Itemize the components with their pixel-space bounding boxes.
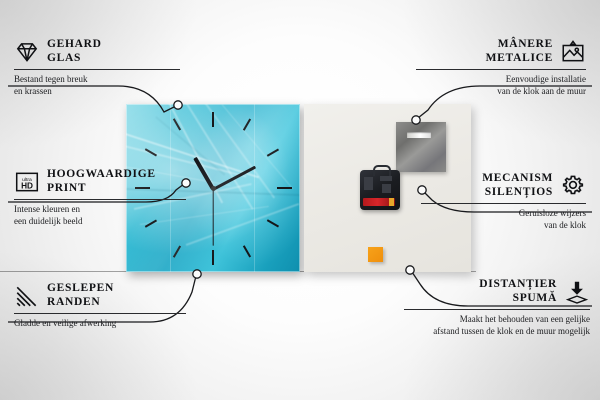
callout-sub-line2: van de klok: [421, 220, 586, 232]
callout-hoogwaardige-print[interactable]: ultra HD HOOGWAARDIGE PRINT Intense kleu…: [14, 168, 189, 227]
callout-sub-line1: Eenvoudige installatie: [416, 74, 586, 86]
callout-title-line1: GEHARD: [47, 38, 102, 52]
callout-sub-line1: Geruisloze wijzers: [421, 208, 586, 220]
callout-manere-metalice[interactable]: MÂNERE METALICE Eenvoudige installatie v…: [416, 38, 586, 97]
infographic-canvas: GEHARD GLAS Bestand tegen breuk en krass…: [0, 0, 600, 400]
callout-sub-line1: Bestand tegen breuk: [14, 74, 184, 86]
callout-sub-line1: Intense kleuren en: [14, 204, 189, 216]
gear-icon: [560, 173, 586, 199]
ultra-hd-icon: ultra HD: [14, 169, 40, 195]
callout-rule: [14, 199, 186, 200]
callout-rule: [14, 69, 180, 70]
callout-title-line1: MÂNERE: [486, 38, 553, 52]
callout-rule: [421, 203, 586, 204]
callout-rule: [404, 309, 590, 310]
callout-mecanism-silentios[interactable]: MECANISM SILENȚIOS Geruisloze wijzers va…: [421, 172, 586, 231]
battery-terminal: [389, 198, 394, 206]
callout-sub-line2: een duidelijk beeld: [14, 216, 189, 228]
callout-title-line2: GLAS: [47, 52, 102, 66]
callout-sub-line1: Gladde en veilige afwerking: [14, 318, 189, 330]
callout-geslepen-randen[interactable]: GESLEPEN RANDEN Gladde en veilige afwerk…: [14, 282, 189, 330]
callout-title-line2: SPUMĂ: [479, 292, 557, 306]
svg-text:HD: HD: [21, 181, 33, 190]
diamond-icon: [14, 39, 40, 65]
callout-title-line2: RANDEN: [47, 296, 114, 310]
callout-title-line2: METALICE: [486, 52, 553, 66]
mechanism-hook: [373, 165, 391, 176]
callout-title-line2: SILENȚIOS: [482, 186, 553, 200]
battery: [363, 198, 395, 206]
bevelled-edge-icon: [14, 283, 40, 309]
spacer-arrow-icon: [564, 279, 590, 305]
callout-title-line1: GESLEPEN: [47, 282, 114, 296]
callout-rule: [14, 313, 186, 314]
callout-title-line1: HOOGWAARDIGE: [47, 168, 156, 182]
callout-rule: [416, 69, 586, 70]
callout-title-line2: PRINT: [47, 182, 156, 196]
callout-sub-line2: van de klok aan de muur: [416, 86, 586, 98]
callout-gehard-glas[interactable]: GEHARD GLAS Bestand tegen breuk en krass…: [14, 38, 184, 97]
hanger-slot: [407, 132, 431, 138]
callout-sub-line2: en krassen: [14, 86, 184, 98]
metal-hanger-plate: [396, 122, 446, 172]
callout-title-line1: MECANISM: [482, 172, 553, 186]
callout-title-line1: DISTANȚIER: [479, 278, 557, 292]
callout-distantier-spuma[interactable]: DISTANȚIER SPUMĂ Maakt het behouden van …: [404, 278, 590, 337]
callout-sub-line2: afstand tussen de klok en de muur mogeli…: [404, 326, 590, 338]
callout-sub-line1: Maakt het behouden van een gelijke: [404, 314, 590, 326]
foam-spacer: [368, 247, 383, 262]
picture-frame-icon: [560, 39, 586, 65]
quartz-mechanism: [360, 170, 400, 210]
